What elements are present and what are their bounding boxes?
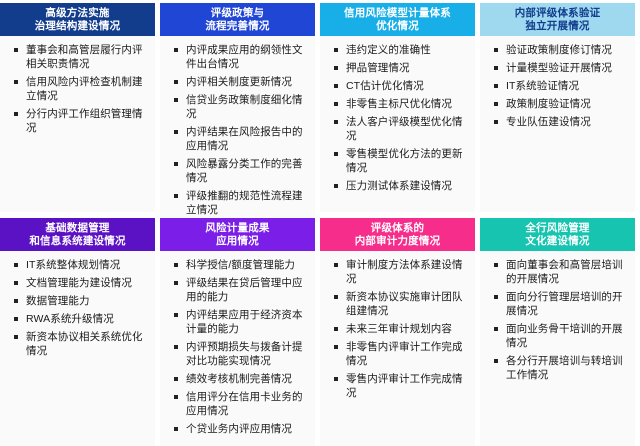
card-header: 全行风险管理 文化建设情况 [480, 218, 635, 251]
bullet-item: 信贷业务政策制度细化情况 [164, 93, 310, 121]
card-header: 高级方法实施 治理结构建设情况 [0, 3, 155, 36]
bullet-item: 董事会和高管层履行内评相关职责情况 [4, 43, 150, 71]
bottom-row: 基础数据管理 和信息系统建设情况 IT系统整体规划情况文档管理能为建设情况数据管… [0, 212, 640, 446]
card-title-line2: 优化情况 [376, 20, 419, 33]
bullet-item: 违约定义的准确性 [324, 43, 470, 57]
card-credit-risk-model-system[interactable]: 信用风险模型计量体系 优化情况 违约定义的准确性押品管理情况CT估计优化情况非零… [320, 3, 475, 212]
bullet-item: 面向分行管理层培训的开展情况 [484, 290, 630, 318]
bullet-item: 零售内评审计工作完成情况 [324, 372, 470, 400]
bullet-item: 信用风险内评检查机制建立情况 [4, 75, 150, 103]
card-risk-culture[interactable]: 全行风险管理 文化建设情况 面向董事会和高管层培训的开展情况面向分行管理层培训的… [480, 218, 635, 446]
card-header: 风险计量成果 应用情况 [160, 218, 315, 251]
card-title-line1: 风险计量成果 [205, 222, 269, 235]
bullet-item: IT系统验证情况 [484, 79, 630, 93]
bullet-item: 内评结果应用于经济资本计量的能力 [164, 308, 310, 336]
card-rating-policy-process[interactable]: 评级政策与 流程完善情况 内评成果应用的纲领性文件出台情况内评相关制度更新情况信… [160, 3, 315, 212]
card-title-line2: 和信息系统建设情况 [29, 235, 125, 248]
bullet-item: 法人客户评级模型优化情况 [324, 115, 470, 143]
framework-board: 高级方法实施 治理结构建设情况 董事会和高管层履行内评相关职责情况信用风险内评检… [0, 0, 640, 446]
card-title-line1: 基础数据管理 [45, 222, 109, 235]
bullet-item: 数据管理能力 [4, 294, 150, 308]
bullet-item: 审计制度方法体系建设情况 [324, 258, 470, 286]
bullet-item: 新资本协议实施审计团队组建情况 [324, 290, 470, 318]
bullet-list: 审计制度方法体系建设情况新资本协议实施审计团队组建情况未来三年审计规划内容非零售… [324, 258, 470, 400]
card-title-line2: 文化建设情况 [525, 235, 589, 248]
bullet-item: 个贷业务内评应用情况 [164, 422, 310, 436]
bullet-list: 验证政策制度修订情况计量模型验证开展情况IT系统验证情况政策制度验证情况专业队伍… [484, 43, 630, 129]
card-title-line1: 内部评级体系验证 [515, 7, 601, 20]
card-body: 面向董事会和高管层培训的开展情况面向分行管理层培训的开展情况面向业务骨干培训的开… [480, 251, 635, 446]
card-header: 评级政策与 流程完善情况 [160, 3, 315, 36]
card-header: 基础数据管理 和信息系统建设情况 [0, 218, 155, 251]
bullet-item: 各分行开展培训与转培训工作情况 [484, 354, 630, 382]
card-title-line2: 流程完善情况 [205, 20, 269, 33]
bullet-item: CT估计优化情况 [324, 79, 470, 93]
bullet-item: 未来三年审计规划内容 [324, 322, 470, 336]
card-title-line1: 评级政策与 [211, 7, 265, 20]
card-body: IT系统整体规划情况文档管理能为建设情况数据管理能力RWA系统升级情况新资本协议… [0, 251, 155, 446]
bullet-list: 科学授信/额度管理能力评级结果在贷后管理中应用的能力内评结果应用于经济资本计量的… [164, 258, 310, 436]
top-row: 高级方法实施 治理结构建设情况 董事会和高管层履行内评相关职责情况信用风险内评检… [0, 0, 640, 212]
card-body: 内评成果应用的纲领性文件出台情况内评相关制度更新情况信贷业务政策制度细化情况内评… [160, 36, 315, 225]
bullet-item: 面向董事会和高管层培训的开展情况 [484, 258, 630, 286]
bullet-item: 评级推翻的规范性流程建立情况 [164, 189, 310, 217]
bullet-item: 绩效考核机制完善情况 [164, 372, 310, 386]
card-title-line1: 评级体系的 [371, 222, 425, 235]
card-title-line2: 内部审计力度情况 [355, 235, 441, 248]
bullet-item: 风险暴露分类工作的完善情况 [164, 157, 310, 185]
bullet-item: 非零售主标尺优化情况 [324, 97, 470, 111]
card-title-line1: 信用风险模型计量体系 [344, 7, 451, 20]
bullet-item: 内评成果应用的纲领性文件出台情况 [164, 43, 310, 71]
bullet-item: 新资本协议相关系统优化情况 [4, 330, 150, 358]
bullet-item: 压力测试体系建设情况 [324, 179, 470, 193]
card-header: 内部评级体系验证 独立开展情况 [480, 3, 635, 36]
bullet-list: 违约定义的准确性押品管理情况CT估计优化情况非零售主标尺优化情况法人客户评级模型… [324, 43, 470, 193]
bullet-list: 面向董事会和高管层培训的开展情况面向分行管理层培训的开展情况面向业务骨干培训的开… [484, 258, 630, 382]
bullet-item: 押品管理情况 [324, 61, 470, 75]
bullet-item: 政策制度验证情况 [484, 97, 630, 111]
bullet-list: 董事会和高管层履行内评相关职责情况信用风险内评检查机制建立情况分行内评工作组织管… [4, 43, 150, 135]
bullet-item: 专业队伍建设情况 [484, 115, 630, 129]
card-header: 信用风险模型计量体系 优化情况 [320, 3, 475, 36]
bullet-item: 内评相关制度更新情况 [164, 75, 310, 89]
bullet-item: 零售模型优化方法的更新情况 [324, 147, 470, 175]
card-title-line1: 高级方法实施 [45, 7, 109, 20]
card-body: 验证政策制度修订情况计量模型验证开展情况IT系统验证情况政策制度验证情况专业队伍… [480, 36, 635, 212]
bullet-item: 非零售内评审计工作完成情况 [324, 340, 470, 368]
card-title-line2: 应用情况 [216, 235, 259, 248]
bullet-list: IT系统整体规划情况文档管理能为建设情况数据管理能力RWA系统升级情况新资本协议… [4, 258, 150, 358]
card-body: 科学授信/额度管理能力评级结果在贷后管理中应用的能力内评结果应用于经济资本计量的… [160, 251, 315, 446]
bullet-item: 验证政策制度修订情况 [484, 43, 630, 57]
bullet-item: RWA系统升级情况 [4, 312, 150, 326]
bullet-item: 信用评分在信用卡业务的应用情况 [164, 390, 310, 418]
bullet-item: 文档管理能为建设情况 [4, 276, 150, 290]
card-internal-rating-validation[interactable]: 内部评级体系验证 独立开展情况 验证政策制度修订情况计量模型验证开展情况IT系统… [480, 3, 635, 212]
bullet-list: 内评成果应用的纲领性文件出台情况内评相关制度更新情况信贷业务政策制度细化情况内评… [164, 43, 310, 217]
card-title-line2: 独立开展情况 [525, 20, 589, 33]
bullet-item: 面向业务骨干培训的开展情况 [484, 322, 630, 350]
card-title-line2: 治理结构建设情况 [35, 20, 121, 33]
card-body: 审计制度方法体系建设情况新资本协议实施审计团队组建情况未来三年审计规划内容非零售… [320, 251, 475, 446]
bullet-item: 内评结果在风险报告中的应用情况 [164, 125, 310, 153]
card-header: 评级体系的 内部审计力度情况 [320, 218, 475, 251]
bullet-item: 分行内评工作组织管理情况 [4, 107, 150, 135]
card-basic-data-management[interactable]: 基础数据管理 和信息系统建设情况 IT系统整体规划情况文档管理能为建设情况数据管… [0, 218, 155, 446]
card-body: 董事会和高管层履行内评相关职责情况信用风险内评检查机制建立情况分行内评工作组织管… [0, 36, 155, 212]
bullet-item: 评级结果在贷后管理中应用的能力 [164, 276, 310, 304]
card-advanced-method-governance[interactable]: 高级方法实施 治理结构建设情况 董事会和高管层履行内评相关职责情况信用风险内评检… [0, 3, 155, 212]
card-title-line1: 全行风险管理 [525, 222, 589, 235]
card-risk-measurement-application[interactable]: 风险计量成果 应用情况 科学授信/额度管理能力评级结果在贷后管理中应用的能力内评… [160, 218, 315, 446]
bullet-item: 科学授信/额度管理能力 [164, 258, 310, 272]
bullet-item: 计量模型验证开展情况 [484, 61, 630, 75]
bullet-item: IT系统整体规划情况 [4, 258, 150, 272]
bullet-item: 内评预期损失与拨备计提对比功能实现情况 [164, 340, 310, 368]
card-internal-audit-strength[interactable]: 评级体系的 内部审计力度情况 审计制度方法体系建设情况新资本协议实施审计团队组建… [320, 218, 475, 446]
card-body: 违约定义的准确性押品管理情况CT估计优化情况非零售主标尺优化情况法人客户评级模型… [320, 36, 475, 212]
